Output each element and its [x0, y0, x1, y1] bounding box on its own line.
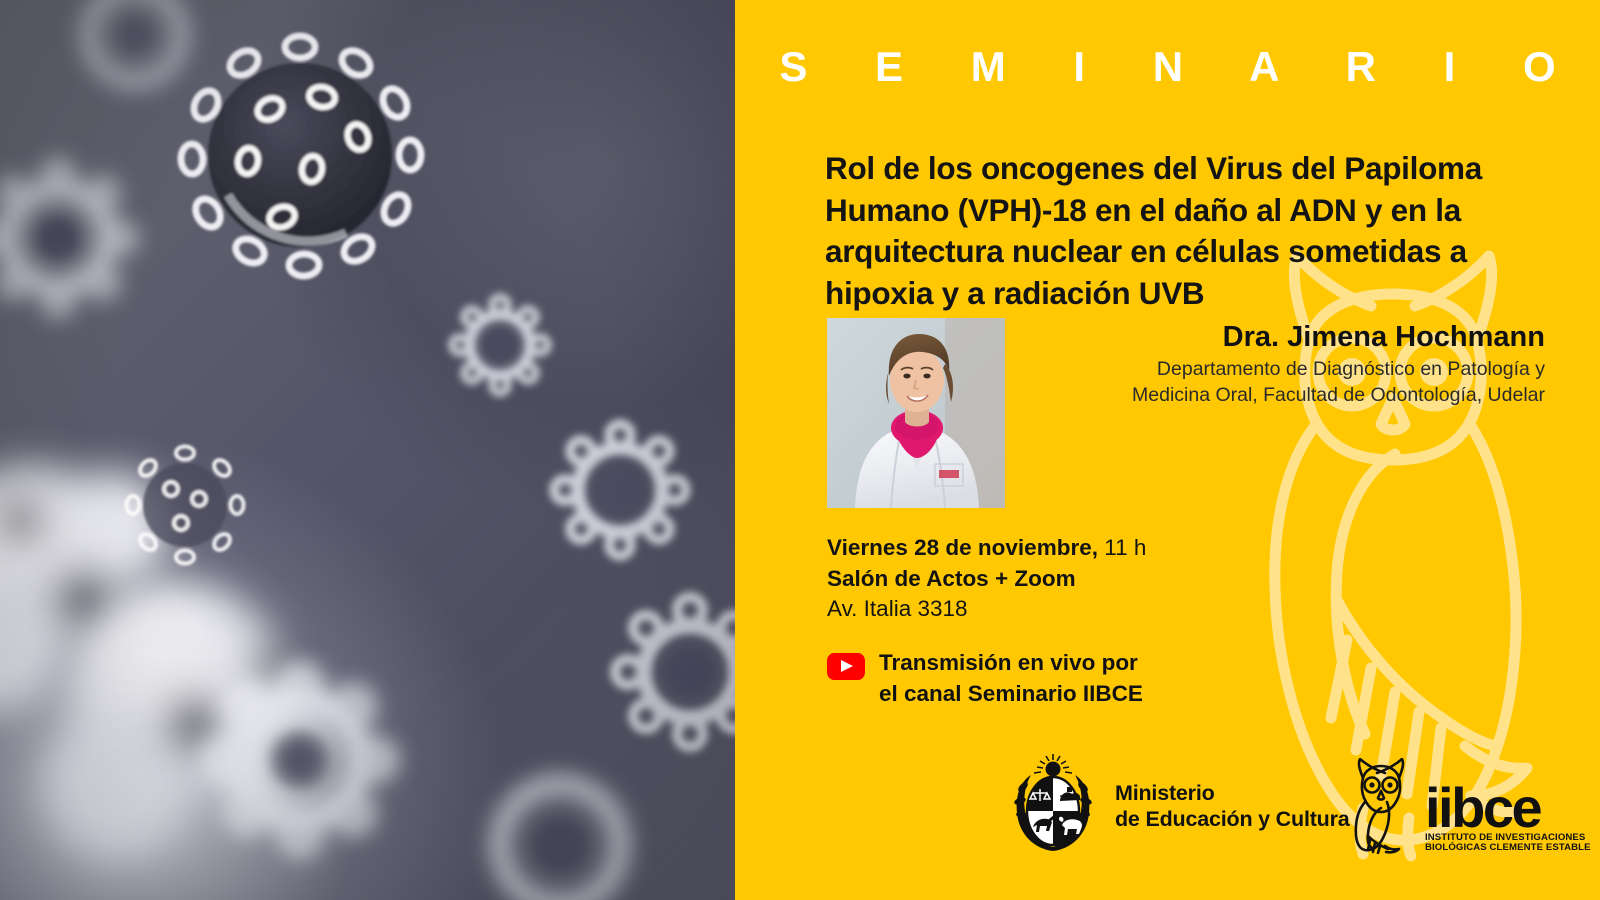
ministry-name: Ministerio de Educación y Cultura — [1115, 780, 1350, 832]
poster-content: S E M I N A R I O Rol de los oncogenes d… — [735, 0, 1600, 900]
owl-icon — [1347, 758, 1417, 854]
speaker-block: Dra. Jimena Hochmann Departamento de Dia… — [827, 318, 1547, 514]
speaker-affiliation-line1: Departamento de Diagnóstico en Patología… — [1025, 357, 1545, 383]
event-venue: Salón de Actos + Zoom — [827, 564, 1387, 595]
iibce-wordmark-block: iibce INSTITUTO DE INVESTIGACIONES BIOLÓ… — [1425, 785, 1591, 854]
livestream-text: Transmisión en vivo por el canal Seminar… — [879, 648, 1347, 709]
speaker-name: Dra. Jimena Hochmann — [1025, 320, 1545, 354]
ministry-line1: Ministerio — [1115, 780, 1350, 806]
event-details: Viernes 28 de noviembre, 11 h Salón de A… — [827, 533, 1387, 625]
uruguay-coat-of-arms-icon — [1005, 751, 1101, 861]
poster-kicker: S E M I N A R I O — [735, 44, 1600, 90]
event-address: Av. Italia 3318 — [827, 594, 1387, 625]
logo-row: Ministerio de Educación y Cultura — [735, 744, 1600, 862]
iibce-logo: iibce INSTITUTO DE INVESTIGACIONES BIOLÓ… — [1347, 758, 1591, 854]
youtube-icon[interactable] — [827, 653, 865, 680]
livestream-block: Transmisión en vivo por el canal Seminar… — [827, 648, 1347, 709]
seminar-poster: S E M I N A R I O Rol de los oncogenes d… — [0, 0, 1600, 900]
iibce-wordmark: iibce — [1425, 785, 1591, 831]
info-panel: S E M I N A R I O Rol de los oncogenes d… — [735, 0, 1600, 900]
event-date-line: Viernes 28 de noviembre, 11 h — [827, 533, 1387, 564]
livestream-line2: el canal Seminario IIBCE — [879, 679, 1347, 710]
event-time: 11 h — [1104, 535, 1146, 560]
livestream-line1: Transmisión en vivo por — [879, 648, 1347, 679]
speaker-info: Dra. Jimena Hochmann Departamento de Dia… — [1025, 320, 1545, 409]
image-vignette — [0, 0, 735, 900]
speaker-affiliation: Departamento de Diagnóstico en Patología… — [1025, 357, 1545, 409]
virus-image-panel — [0, 0, 735, 900]
iibce-subtitle-line2: BIOLÓGICAS CLEMENTE ESTABLE — [1425, 843, 1591, 854]
event-date: Viernes 28 de noviembre, — [827, 535, 1098, 560]
iibce-subtitle: INSTITUTO DE INVESTIGACIONES BIOLÓGICAS … — [1425, 833, 1591, 854]
poster-title: Rol de los oncogenes del Virus del Papil… — [825, 148, 1565, 314]
ministry-line2: de Educación y Cultura — [1115, 806, 1350, 832]
speaker-affiliation-line2: Medicina Oral, Facultad de Odontología, … — [1025, 383, 1545, 409]
speaker-photo — [827, 318, 1005, 508]
speaker-portrait-illustration — [827, 318, 1005, 508]
ministry-logo: Ministerio de Educación y Cultura — [1005, 750, 1350, 862]
